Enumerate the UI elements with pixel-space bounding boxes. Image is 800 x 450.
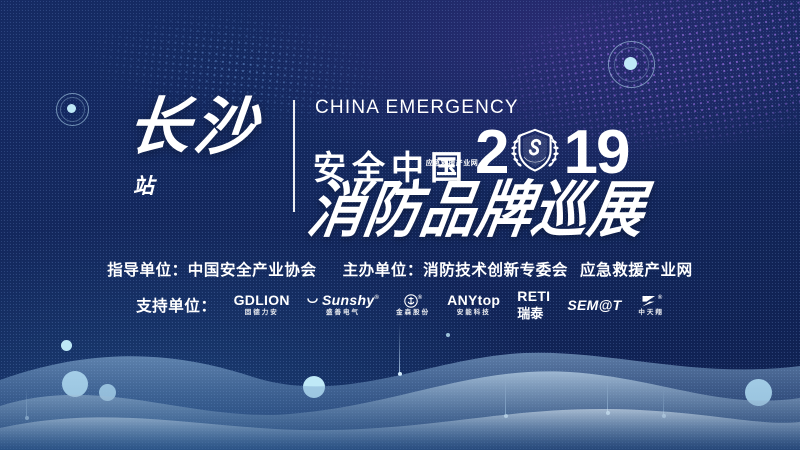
sponsor-name-en: ANYtop [447, 293, 500, 307]
poster-content: 长沙 站 CHINA EMERGENCY 安全中国 2 [0, 0, 800, 450]
guidance-value: 中国安全产业协会 [188, 262, 317, 279]
sponsor-logo-anycom[interactable]: ® 金森股份 [396, 292, 430, 316]
sponsor-name-en: GDLION [234, 293, 290, 307]
host-value-primary: 消防技术创新专委会 [423, 262, 568, 279]
sponsor-name-cn: 盛善电气 [326, 310, 360, 317]
credits-section: 指导单位：中国安全产业协会主办单位：消防技术创新专委会应急救援产业网 支持单位：… [0, 258, 800, 320]
event-headline: 消防品牌巡展 [304, 179, 706, 244]
hero-row: 长沙 站 CHINA EMERGENCY 安全中国 2 [0, 96, 800, 240]
sponsor-name-cn: 瑞泰 [517, 307, 543, 320]
city-lockup: 长沙 站 [99, 96, 289, 158]
bolt-icon [640, 294, 658, 308]
host-label: 主办单位： [343, 262, 424, 279]
sponsor-name-en: ® [640, 292, 663, 307]
sponsor-logo-semat[interactable]: SEM@T [567, 298, 621, 312]
vertical-divider [293, 100, 295, 212]
shield-laurel-emblem-icon [505, 122, 565, 182]
sponsor-logo-anytop[interactable]: ANYtop 安能科技 [447, 293, 500, 316]
sponsor-wordmark: Sunshy [322, 292, 374, 308]
sponsor-name-en: Sunshy® [307, 293, 379, 307]
moon-icon [307, 297, 318, 306]
sponsor-logo-gdlion[interactable]: GDLION 固德力安 [234, 293, 290, 316]
city-station-suffix: 站 [133, 170, 155, 200]
sponsor-name-cn: 中天翔 [638, 310, 664, 317]
title-eyebrow-en: CHINA EMERGENCY [315, 98, 701, 117]
sponsor-name-en: SEM@T [567, 298, 621, 312]
sponsor-name-cn: 固德力安 [245, 310, 279, 317]
sponsor-name-cn: 安能科技 [457, 310, 491, 317]
sponsor-logo-zhongtianxiang[interactable]: ® 中天翔 [638, 292, 664, 316]
sponsors-row: 支持单位： GDLION 固德力安 Sunshy® 盛善电气 [0, 289, 800, 320]
sponsor-logo-sunshy[interactable]: Sunshy® 盛善电气 [307, 293, 379, 316]
host-value-secondary: 应急救援产业网 [580, 262, 693, 279]
organizer-line: 指导单位：中国安全产业协会主办单位：消防技术创新专委会应急救援产业网 [0, 258, 800, 280]
sponsor-name-cn: 金森股份 [396, 310, 430, 317]
sponsor-name-en: ® [404, 292, 423, 307]
anchor-icon [404, 294, 418, 308]
guidance-label: 指导单位： [107, 262, 188, 279]
event-poster: 长沙 站 CHINA EMERGENCY 安全中国 2 [0, 0, 800, 450]
sponsor-name-en: RETI [517, 289, 550, 303]
sponsor-logo-reti[interactable]: RETI 瑞泰 [517, 289, 550, 320]
city-name: 长沙 [96, 96, 293, 158]
support-label: 支持单位： [136, 294, 217, 316]
title-block: CHINA EMERGENCY 安全中国 2 [309, 96, 701, 240]
